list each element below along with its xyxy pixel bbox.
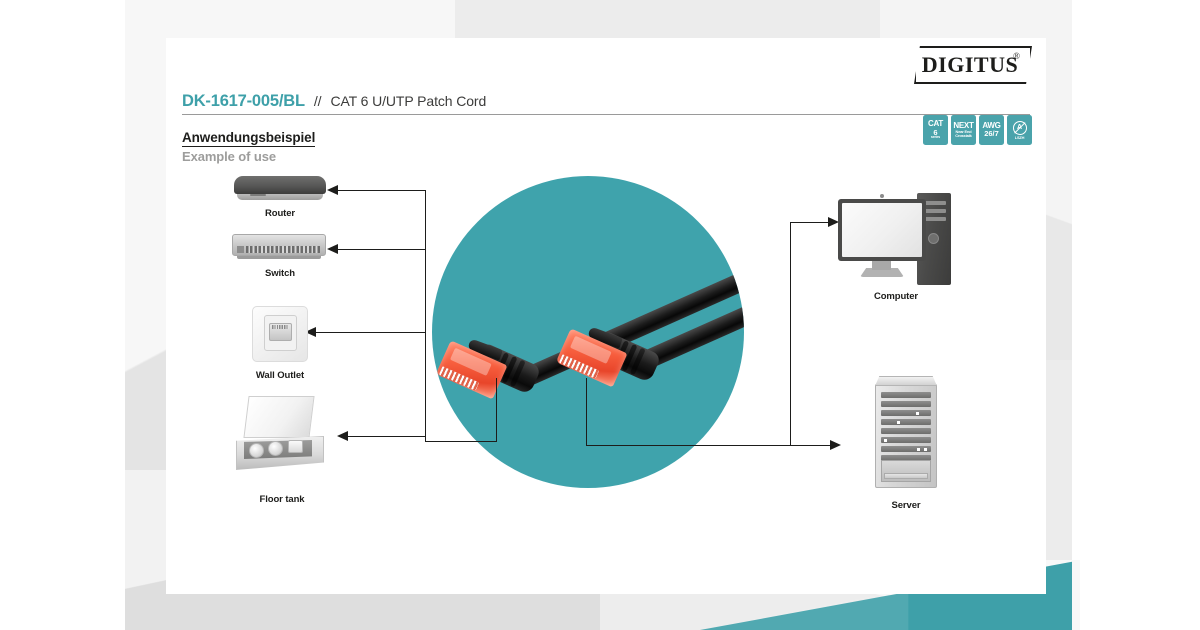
server-blade-4 bbox=[881, 419, 931, 425]
server-blade-2 bbox=[881, 401, 931, 407]
computer-label: Computer bbox=[826, 291, 966, 302]
right-trunk-vertical bbox=[790, 222, 791, 446]
router-label: Router bbox=[210, 208, 350, 219]
floor-tank-lid bbox=[243, 396, 314, 438]
server-drive-handle bbox=[884, 473, 928, 479]
server-icon bbox=[869, 376, 945, 494]
monitor-stand bbox=[872, 260, 891, 270]
rj45-contacts-right bbox=[559, 354, 599, 378]
server-led-2 bbox=[897, 421, 900, 424]
switch-feet bbox=[237, 256, 321, 259]
arrow-router bbox=[327, 185, 338, 195]
floor-tank-label: Floor tank bbox=[212, 494, 352, 505]
floor-tank-socket-1 bbox=[249, 443, 264, 458]
server-led-3 bbox=[884, 439, 887, 442]
wall-outlet-icon bbox=[252, 306, 308, 362]
arrow-server bbox=[830, 440, 841, 450]
line-to-floor-tank bbox=[348, 436, 426, 437]
server-label: Server bbox=[836, 500, 976, 511]
line-to-computer bbox=[790, 222, 830, 223]
line-to-server bbox=[790, 445, 832, 446]
rj45-contacts-left bbox=[439, 366, 479, 390]
application-diagram: Router Switch Wall Outlet Floor tank bbox=[166, 38, 1046, 594]
floor-tank-data-port bbox=[288, 440, 303, 453]
server-blade-1 bbox=[881, 392, 931, 398]
computer-power-button bbox=[928, 233, 939, 244]
server-blade-5 bbox=[881, 428, 931, 434]
content-card: DIGITUS ® DK-1617-005/BL // CAT 6 U/UTP … bbox=[166, 38, 1046, 594]
router-status-led bbox=[250, 194, 266, 196]
left-plug-drop-line bbox=[496, 378, 497, 442]
arrow-switch bbox=[327, 244, 338, 254]
monitor-screen bbox=[842, 203, 922, 257]
wall-outlet-label: Wall Outlet bbox=[210, 370, 350, 381]
computer-icon bbox=[838, 193, 954, 289]
left-plug-to-trunk bbox=[425, 441, 497, 442]
switch-indicator bbox=[237, 246, 244, 253]
switch-icon bbox=[232, 234, 328, 260]
arrow-floor-tank bbox=[337, 431, 348, 441]
server-top-panel bbox=[875, 376, 937, 386]
right-plug-drop-line bbox=[586, 378, 587, 446]
switch-label: Switch bbox=[210, 268, 350, 279]
left-trunk-vertical bbox=[425, 190, 426, 442]
rj45-connector-left bbox=[434, 327, 543, 414]
router-icon bbox=[234, 176, 326, 202]
switch-port-array bbox=[246, 246, 320, 253]
line-to-wall-outlet bbox=[316, 332, 426, 333]
router-shell bbox=[234, 176, 326, 194]
monitor-webcam bbox=[880, 194, 884, 198]
server-blade-6 bbox=[881, 437, 931, 443]
switch-chassis bbox=[232, 234, 326, 256]
floor-tank-icon bbox=[236, 396, 328, 474]
line-to-router bbox=[338, 190, 426, 191]
monitor-bezel bbox=[838, 199, 926, 261]
server-led-5 bbox=[924, 448, 927, 451]
right-plug-to-trunk bbox=[586, 445, 791, 446]
wall-outlet-contacts bbox=[272, 325, 289, 329]
floor-tank-socket-2 bbox=[268, 441, 283, 456]
server-led-1 bbox=[916, 412, 919, 415]
server-blade-3 bbox=[881, 410, 931, 416]
server-led-4 bbox=[917, 448, 920, 451]
line-to-switch bbox=[338, 249, 426, 250]
